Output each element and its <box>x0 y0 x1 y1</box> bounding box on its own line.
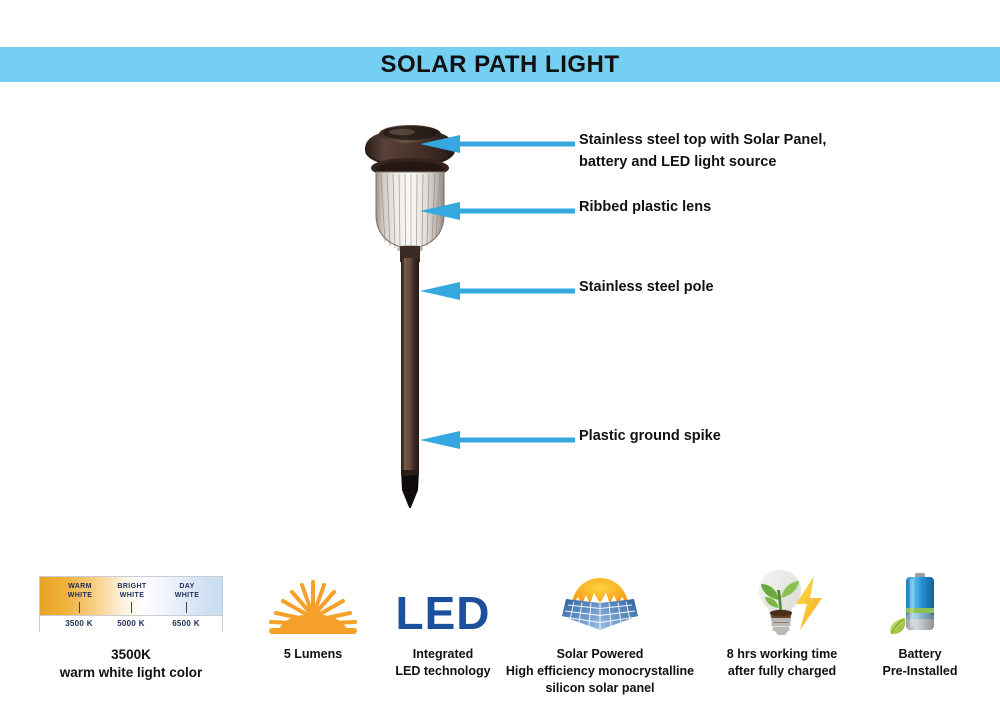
led-logo: LED <box>396 590 491 636</box>
feature-lumens: 5 Lumens <box>255 570 371 663</box>
feature-battery: Battery Pre-Installed <box>862 570 978 680</box>
ground-spike <box>401 470 419 508</box>
led-logo-wrap: LED <box>385 570 501 636</box>
callout-text-top: Stainless steel top with Solar Panel, ba… <box>579 130 826 174</box>
kelvin-tick-3500 <box>79 602 80 613</box>
kelvin-tick-6500 <box>186 602 187 613</box>
feature-caption-hours: 8 hrs working time after fully charged <box>712 646 852 680</box>
feature-color-temperature: WARM WHITE BRIGHT WHITE DAY WHITE 3500 K… <box>22 570 240 682</box>
pole <box>400 246 420 474</box>
arrow-left-icon <box>420 200 575 222</box>
bulb-plant-bolt-icon <box>730 570 834 636</box>
kelvin-gradient: WARM WHITE BRIGHT WHITE DAY WHITE <box>40 577 222 615</box>
kelvin-value-6500: 6500 K <box>157 619 215 628</box>
feature-caption-color-temperature: 3500K warm white light color <box>22 646 240 682</box>
sunrise-icon <box>261 576 365 636</box>
feature-caption-battery: Battery Pre-Installed <box>862 646 978 680</box>
solar-panel-sun-icon-wrap <box>505 570 695 636</box>
kelvin-zone-day: DAY WHITE <box>158 583 216 601</box>
callout-arrow-top <box>420 133 575 155</box>
feature-strip: WARM WHITE BRIGHT WHITE DAY WHITE 3500 K… <box>0 570 1000 715</box>
feature-caption-solar: Solar Powered High efficiency monocrysta… <box>505 646 695 697</box>
feature-led: LED Integrated LED technology <box>385 570 501 680</box>
callout-lens: Ribbed plastic lens <box>420 200 711 222</box>
callout-top: Stainless steel top with Solar Panel, ba… <box>420 133 826 174</box>
callout-arrow-spike <box>420 429 575 451</box>
feature-caption-led: Integrated LED technology <box>385 646 501 680</box>
feature-caption-lumens: 5 Lumens <box>255 646 371 663</box>
arrow-left-icon <box>420 280 575 302</box>
callout-text-lens: Ribbed plastic lens <box>579 197 711 219</box>
battery-leaf-icon-wrap <box>862 570 978 636</box>
header-band: SOLAR PATH LIGHT <box>0 47 1000 82</box>
solar-panel-sun-icon <box>548 572 652 636</box>
sunrise-icon-wrap <box>255 570 371 636</box>
callout-arrow-pole <box>420 280 575 302</box>
callout-spike: Plastic ground spike <box>420 429 721 451</box>
callout-pole: Stainless steel pole <box>420 280 714 302</box>
page-title: SOLAR PATH LIGHT <box>380 51 619 79</box>
kelvin-color-bar: WARM WHITE BRIGHT WHITE DAY WHITE 3500 K… <box>39 576 223 632</box>
feature-hours: 8 hrs working time after fully charged <box>712 570 852 680</box>
feature-solar: Solar Powered High efficiency monocrysta… <box>505 570 695 697</box>
kelvin-zone-bright: BRIGHT WHITE <box>100 583 164 601</box>
arrow-left-icon <box>420 133 575 155</box>
battery-leaf-icon <box>868 570 972 636</box>
kelvin-value-5000: 5000 K <box>102 619 160 628</box>
kelvin-scale: 3500 K 5000 K 6500 K <box>40 615 222 633</box>
kelvin-value-3500: 3500 K <box>50 619 108 628</box>
callout-text-spike: Plastic ground spike <box>579 426 721 448</box>
arrow-left-icon <box>420 429 575 451</box>
callout-arrow-lens <box>420 200 575 222</box>
bulb-plant-bolt-icon-wrap <box>712 570 852 636</box>
callout-text-pole: Stainless steel pole <box>579 277 714 299</box>
kelvin-tick-5000 <box>131 602 132 613</box>
